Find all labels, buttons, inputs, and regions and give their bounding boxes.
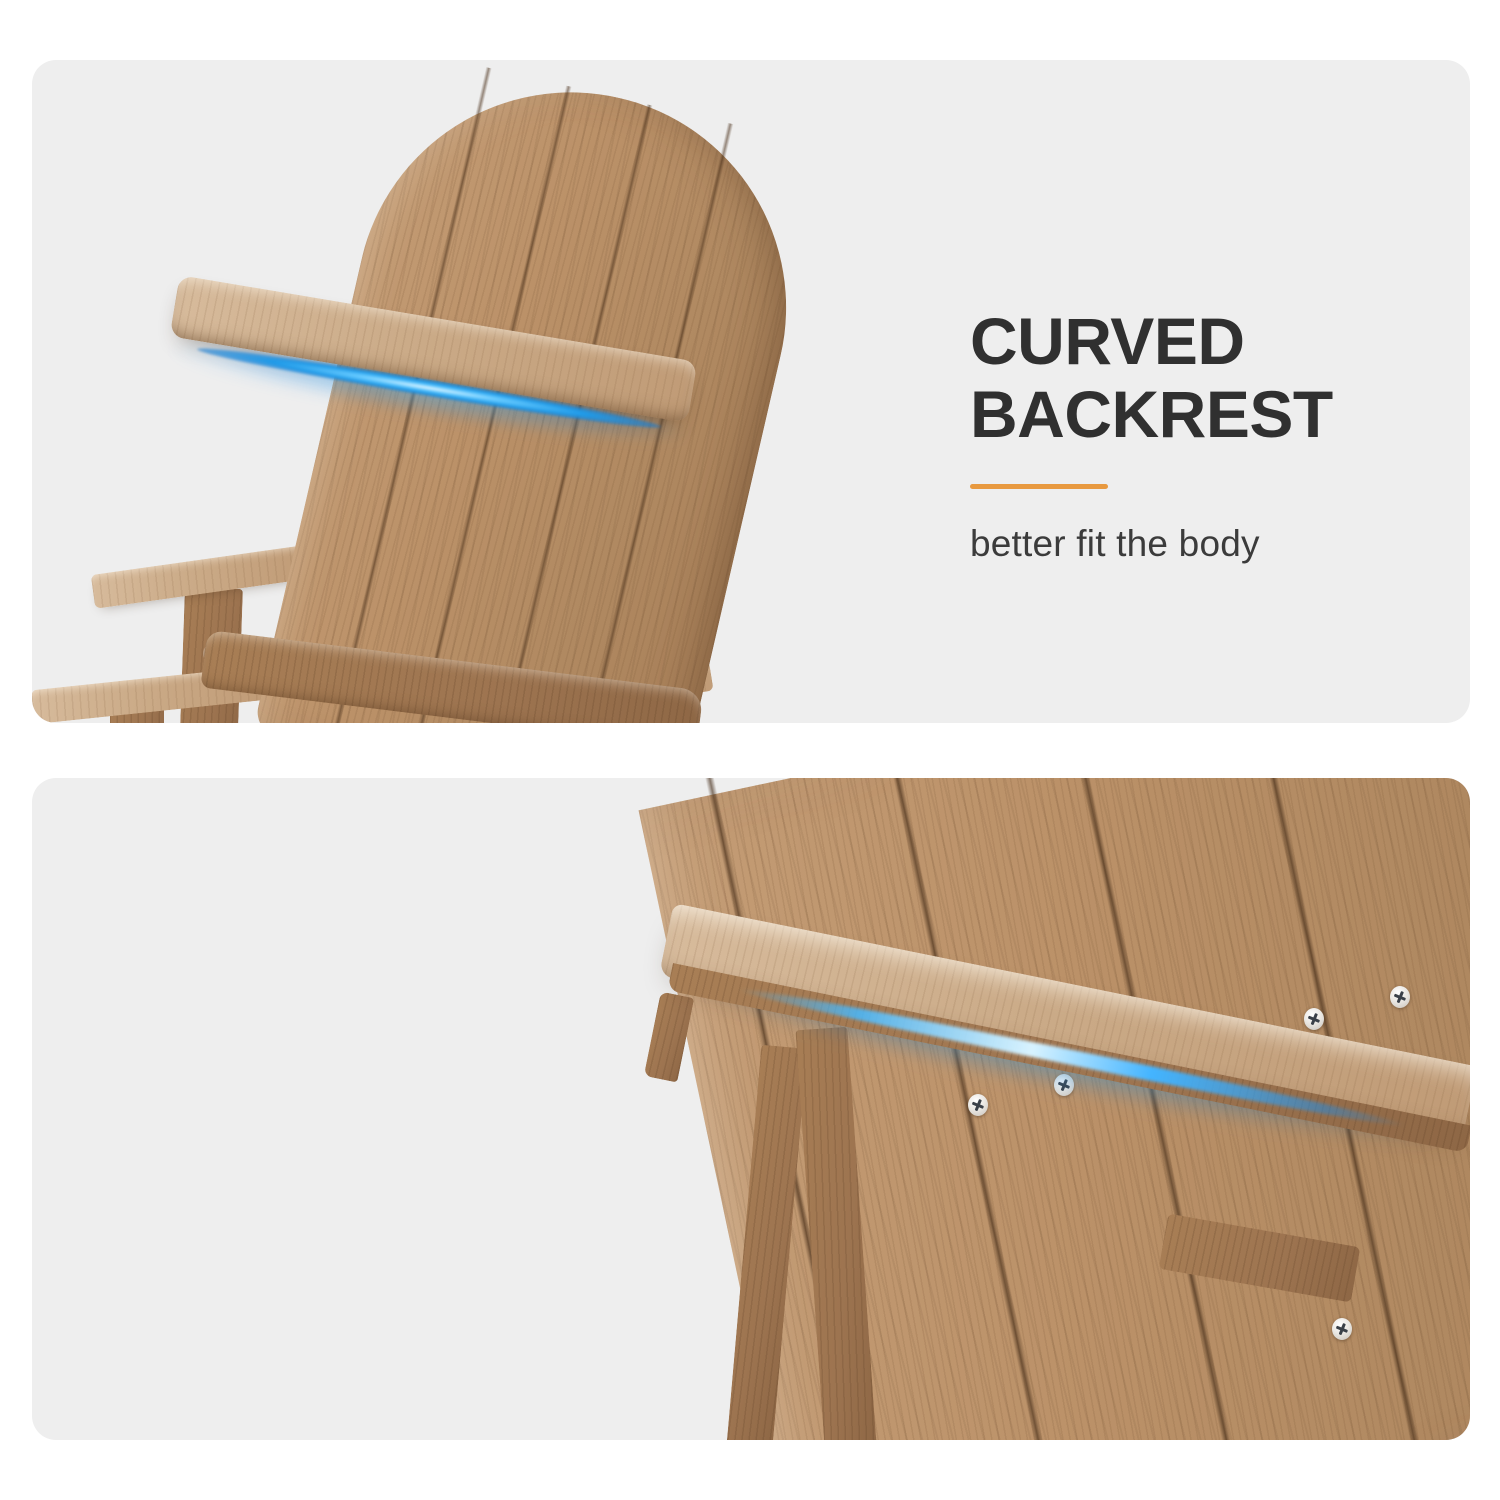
chair-illustration-2 [32,778,1470,1440]
screw-icon [1390,986,1410,1008]
product-feature-page: CURVED BACKREST better fit the body [0,0,1500,1500]
screw-icon [1332,1318,1352,1340]
feature-subline-1: better fit the body [970,523,1333,565]
feature-headline-1: CURVED BACKREST [970,305,1333,450]
feature-panel-curved-backrest: CURVED BACKREST better fit the body [32,60,1470,723]
feature-panel-wide-armrests: WIDE ARMRESTS for better arm relaxation [32,778,1470,1440]
screw-icon [1304,1008,1324,1030]
chair-armrest-photo [32,778,1470,1440]
accent-divider-1 [970,484,1108,489]
feature-copy-block-1: CURVED BACKREST better fit the body [970,305,1333,565]
screw-icon [968,1094,988,1116]
